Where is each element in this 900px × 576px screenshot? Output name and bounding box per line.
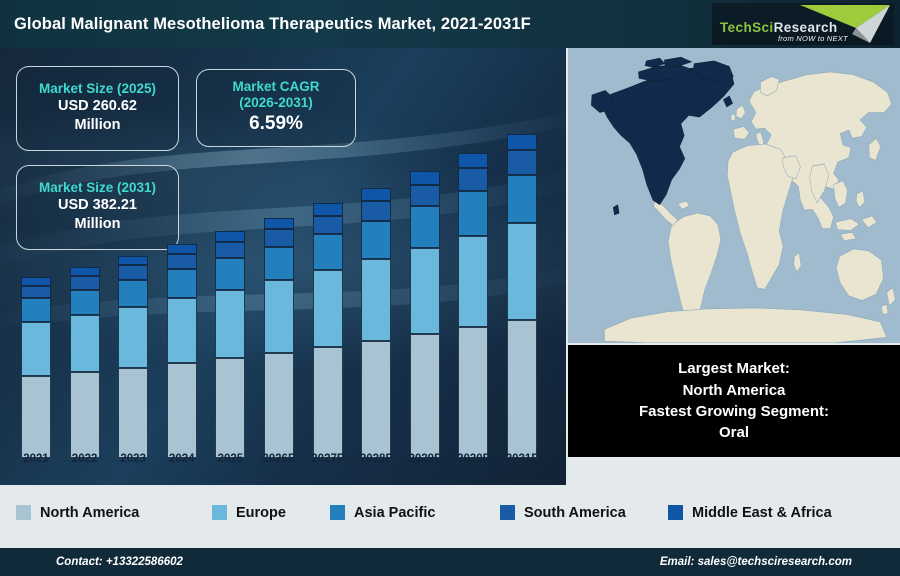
page-title: Global Malignant Mesothelioma Therapeuti… [14,15,531,34]
bar-segment-north-america [167,363,197,458]
bar-2026E [264,48,294,458]
header-bar: Global Malignant Mesothelioma Therapeuti… [0,0,900,48]
bar-segment-europe [21,322,51,376]
bar-segment-asia-pacific [167,269,197,298]
chart-legend: North AmericaEuropeAsia PacificSouth Ame… [0,485,900,540]
bar-segment-south-america [70,276,100,290]
bar-segment-asia-pacific [264,247,294,280]
legend-item-south-america[interactable]: South America [500,505,626,521]
legend-swatch-icon [330,505,345,520]
bar-segment-europe [264,280,294,352]
bar-segment-middle-east-africa [264,218,294,230]
bar-segment-north-america [70,372,100,458]
bar-segment-middle-east-africa [21,277,51,285]
bar-segment-middle-east-africa [167,244,197,254]
bar-segment-south-america [167,254,197,269]
legend-label: North America [40,505,139,521]
fastest-segment-label: Fastest Growing Segment: [639,401,829,422]
bar-2027F [313,48,343,458]
bar-segment-south-america [507,150,537,174]
logo-brand-tech: TechSci [720,20,774,35]
bar-segment-north-america [215,358,245,458]
bar-segment-europe [70,315,100,372]
legend-label: Asia Pacific [354,505,435,521]
footer-bar: Contact: +13322586602 Email: sales@techs… [0,548,900,576]
bar-2029F [410,48,440,458]
x-axis-label-2023: 2023 [105,453,161,465]
bar-2022 [70,48,100,458]
bar-segment-south-america [458,168,488,190]
bar-2030F [458,48,488,458]
bar-segment-asia-pacific [118,280,148,307]
techsci-research-logo: TechSciResearch from NOW to NEXT [712,3,894,45]
bar-segment-asia-pacific [70,290,100,315]
bar-segment-north-america [410,334,440,458]
stacked-bar-chart [0,48,566,485]
bar-2031F [507,48,537,458]
bar-2021 [21,48,51,458]
legend-label: Europe [236,505,286,521]
bar-segment-europe [361,259,391,341]
legend-item-asia-pacific[interactable]: Asia Pacific [330,505,435,521]
legend-label: South America [524,505,626,521]
legend-item-europe[interactable]: Europe [212,505,286,521]
bar-segment-asia-pacific [21,298,51,321]
bar-2028F [361,48,391,458]
world-map [568,48,900,343]
infographic-page: Global Malignant Mesothelioma Therapeuti… [0,0,900,576]
legend-item-middle-east-africa[interactable]: Middle East & Africa [668,505,832,521]
bar-segment-europe [458,236,488,328]
x-axis-label-2024: 2024 [154,453,210,465]
bar-segment-asia-pacific [458,191,488,236]
x-axis-label-2031F: 2031F [494,453,550,465]
bar-segment-south-america [21,286,51,299]
legend-item-north-america[interactable]: North America [16,505,139,521]
bar-segment-middle-east-africa [70,267,100,276]
x-axis-label-2030F: 2030F [445,453,501,465]
bar-segment-asia-pacific [410,206,440,248]
largest-market-value: North America [683,380,786,401]
bar-segment-asia-pacific [215,258,245,289]
bar-segment-asia-pacific [361,221,391,260]
x-axis-label-2026E: 2026E [251,453,307,465]
footer-email: Email: sales@techsciresearch.com [660,556,852,568]
bar-segment-north-america [21,376,51,458]
x-axis-label-2021: 2021 [8,453,64,465]
bar-segment-north-america [313,347,343,458]
bar-segment-asia-pacific [507,175,537,223]
bar-segment-middle-east-africa [361,188,391,201]
logo-tagline: from NOW to NEXT [778,34,848,43]
bar-segment-europe [118,307,148,368]
bar-segment-europe [167,298,197,362]
bar-2024 [167,48,197,458]
bar-segment-south-america [264,229,294,247]
x-axis-label-2025: 2025 [202,453,258,465]
chart-panel: Market Size (2025) USD 260.62 Million Ma… [0,48,566,485]
bar-segment-south-america [410,185,440,206]
x-axis-label-2027F: 2027F [300,453,356,465]
bar-segment-north-america [118,368,148,458]
bar-segment-europe [313,270,343,347]
legend-label: Middle East & Africa [692,505,832,521]
x-axis-labels: 202120222023202420252026E2027F2028F2029F… [0,453,566,485]
bar-segment-europe [215,290,245,358]
world-map-svg [568,48,900,343]
bar-segment-middle-east-africa [313,203,343,215]
legend-swatch-icon [668,505,683,520]
bar-segment-north-america [264,353,294,458]
x-axis-label-2022: 2022 [57,453,113,465]
bar-segment-middle-east-africa [507,134,537,150]
largest-market-label: Largest Market: [678,358,790,379]
x-axis-label-2028F: 2028F [348,453,404,465]
bar-segment-south-america [215,242,245,258]
logo-brand-research: Research [774,20,838,35]
bar-segment-south-america [118,265,148,279]
bar-segment-asia-pacific [313,234,343,270]
bar-2023 [118,48,148,458]
bar-segment-north-america [507,320,537,458]
bar-segment-europe [507,223,537,320]
bar-segment-middle-east-africa [118,256,148,265]
legend-swatch-icon [500,505,515,520]
bar-segment-middle-east-africa [215,231,245,242]
bar-segment-north-america [458,327,488,458]
legend-swatch-icon [16,505,31,520]
x-axis-label-2029F: 2029F [397,453,453,465]
bar-segment-north-america [361,341,391,458]
footer-contact: Contact: +13322586602 [56,556,183,568]
highlight-info-box: Largest Market: North America Fastest Gr… [568,345,900,457]
bar-segment-middle-east-africa [410,171,440,185]
bar-2025 [215,48,245,458]
legend-swatch-icon [212,505,227,520]
logo-wordmark: TechSciResearch [720,20,838,35]
bar-segment-south-america [313,216,343,234]
bar-segment-south-america [361,201,391,221]
bar-segment-middle-east-africa [458,153,488,168]
fastest-segment-value: Oral [719,422,749,443]
bar-segment-europe [410,248,440,334]
